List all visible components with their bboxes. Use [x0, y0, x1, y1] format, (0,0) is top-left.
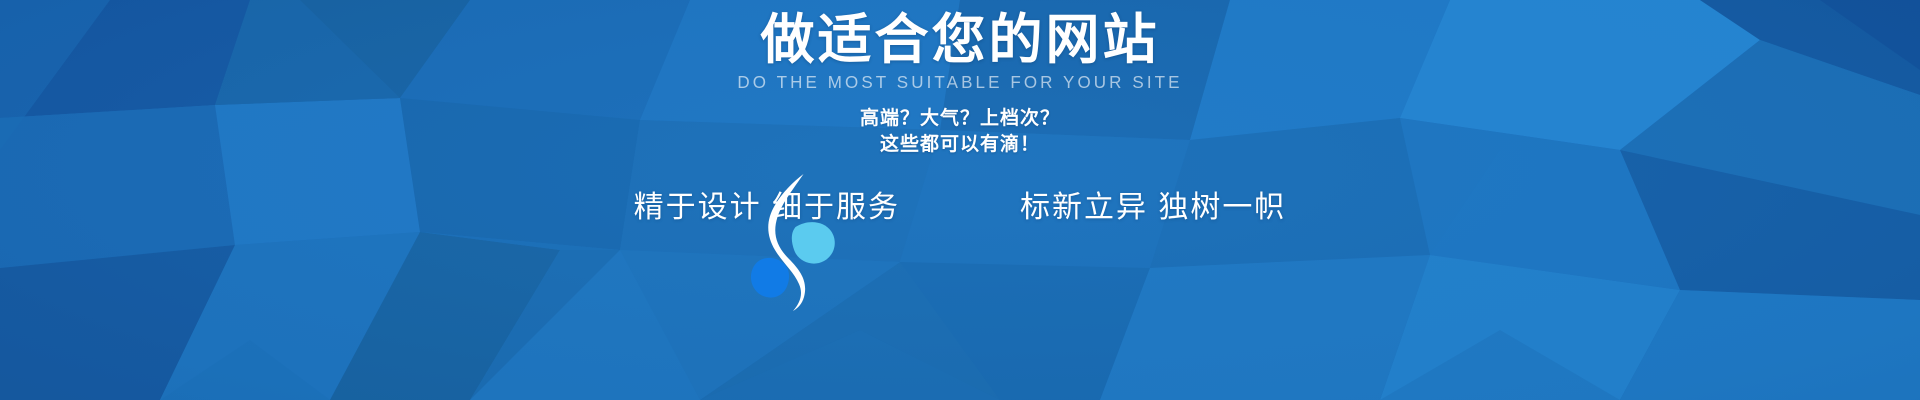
- slogan-row: 精于设计 细于服务 标新立异 独树一帜: [0, 178, 1920, 238]
- question-line-1: 高端？大气？上档次？: [0, 106, 1920, 132]
- subtitle-english: DO THE MOST SUITABLE FOR YOUR SITE: [0, 73, 1920, 94]
- question-line-2: 这些都可以有滴！: [0, 132, 1920, 158]
- logo-leaf-bottom: [751, 258, 789, 298]
- hero-banner: 做适合您的网站 DO THE MOST SUITABLE FOR YOUR SI…: [0, 0, 1920, 400]
- slogan-right: 标新立异 独树一帜: [1020, 186, 1320, 230]
- question-block: 高端？大气？上档次？ 这些都可以有滴！: [0, 106, 1920, 158]
- logo-leaf-top: [792, 222, 835, 264]
- page-title: 做适合您的网站: [0, 8, 1920, 72]
- banner-content: 做适合您的网站 DO THE MOST SUITABLE FOR YOUR SI…: [0, 0, 1920, 400]
- headline-block: 做适合您的网站 DO THE MOST SUITABLE FOR YOUR SI…: [0, 8, 1920, 93]
- leaf-stem-logo-icon: [748, 172, 844, 312]
